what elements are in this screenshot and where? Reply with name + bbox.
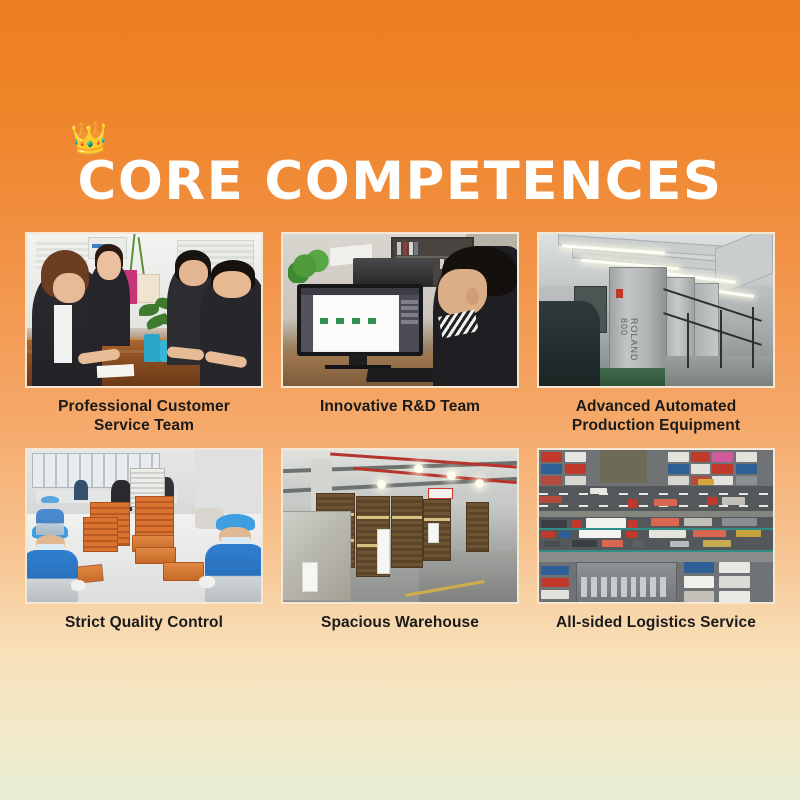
caption-line-1: Advanced Automated [576,398,737,415]
photo-advanced-automated-production-equipment: ROLAND 800 [537,232,775,388]
caption-spacious-warehouse: Spacious Warehouse [281,613,519,632]
photo-spacious-warehouse [281,448,519,604]
machine-label: ROLAND 800 [619,318,639,362]
caption-line-1: Innovative R&D Team [320,398,480,415]
page-title: 👑 CORE COMPETENCES [77,152,722,212]
caption-innovative-rd-team: Innovative R&D Team [281,397,519,416]
caption-all-sided-logistics-service: All-sided Logistics Service [537,613,775,632]
card-advanced-automated-production-equipment[interactable]: ROLAND 800 Advanced Automated Production [537,232,775,435]
crown-icon: 👑 [70,123,111,156]
card-all-sided-logistics-service[interactable]: All-sided Logistics Service [537,448,775,632]
card-strict-quality-control[interactable]: Strict Quality Control [25,448,263,632]
card-innovative-rd-team[interactable]: Innovative R&D Team [281,232,519,435]
page-title-text: CORE COMPETENCES [77,151,722,212]
photo-innovative-rd-team [281,232,519,388]
caption-line-1: All-sided Logistics Service [556,614,756,631]
photo-all-sided-logistics-service [537,448,775,604]
photo-professional-customer-service-team [25,232,263,388]
title-block: 👑 CORE COMPETENCES [0,152,800,212]
caption-professional-customer-service-team: Professional Customer Service Team [25,397,263,435]
caption-line-1: Strict Quality Control [65,614,223,631]
card-spacious-warehouse[interactable]: Spacious Warehouse [281,448,519,632]
caption-line-1: Spacious Warehouse [321,614,479,631]
caption-advanced-automated-production-equipment: Advanced Automated Production Equipment [537,397,775,435]
caption-line-2: Production Equipment [537,416,775,435]
caption-strict-quality-control: Strict Quality Control [25,613,263,632]
caption-line-1: Professional Customer [58,398,230,415]
card-professional-customer-service-team[interactable]: Professional Customer Service Team [25,232,263,435]
competence-grid: Professional Customer Service Team [25,232,775,632]
photo-strict-quality-control [25,448,263,604]
caption-line-2: Service Team [25,416,263,435]
core-competences-banner: 👑 CORE COMPETENCES [0,0,800,800]
